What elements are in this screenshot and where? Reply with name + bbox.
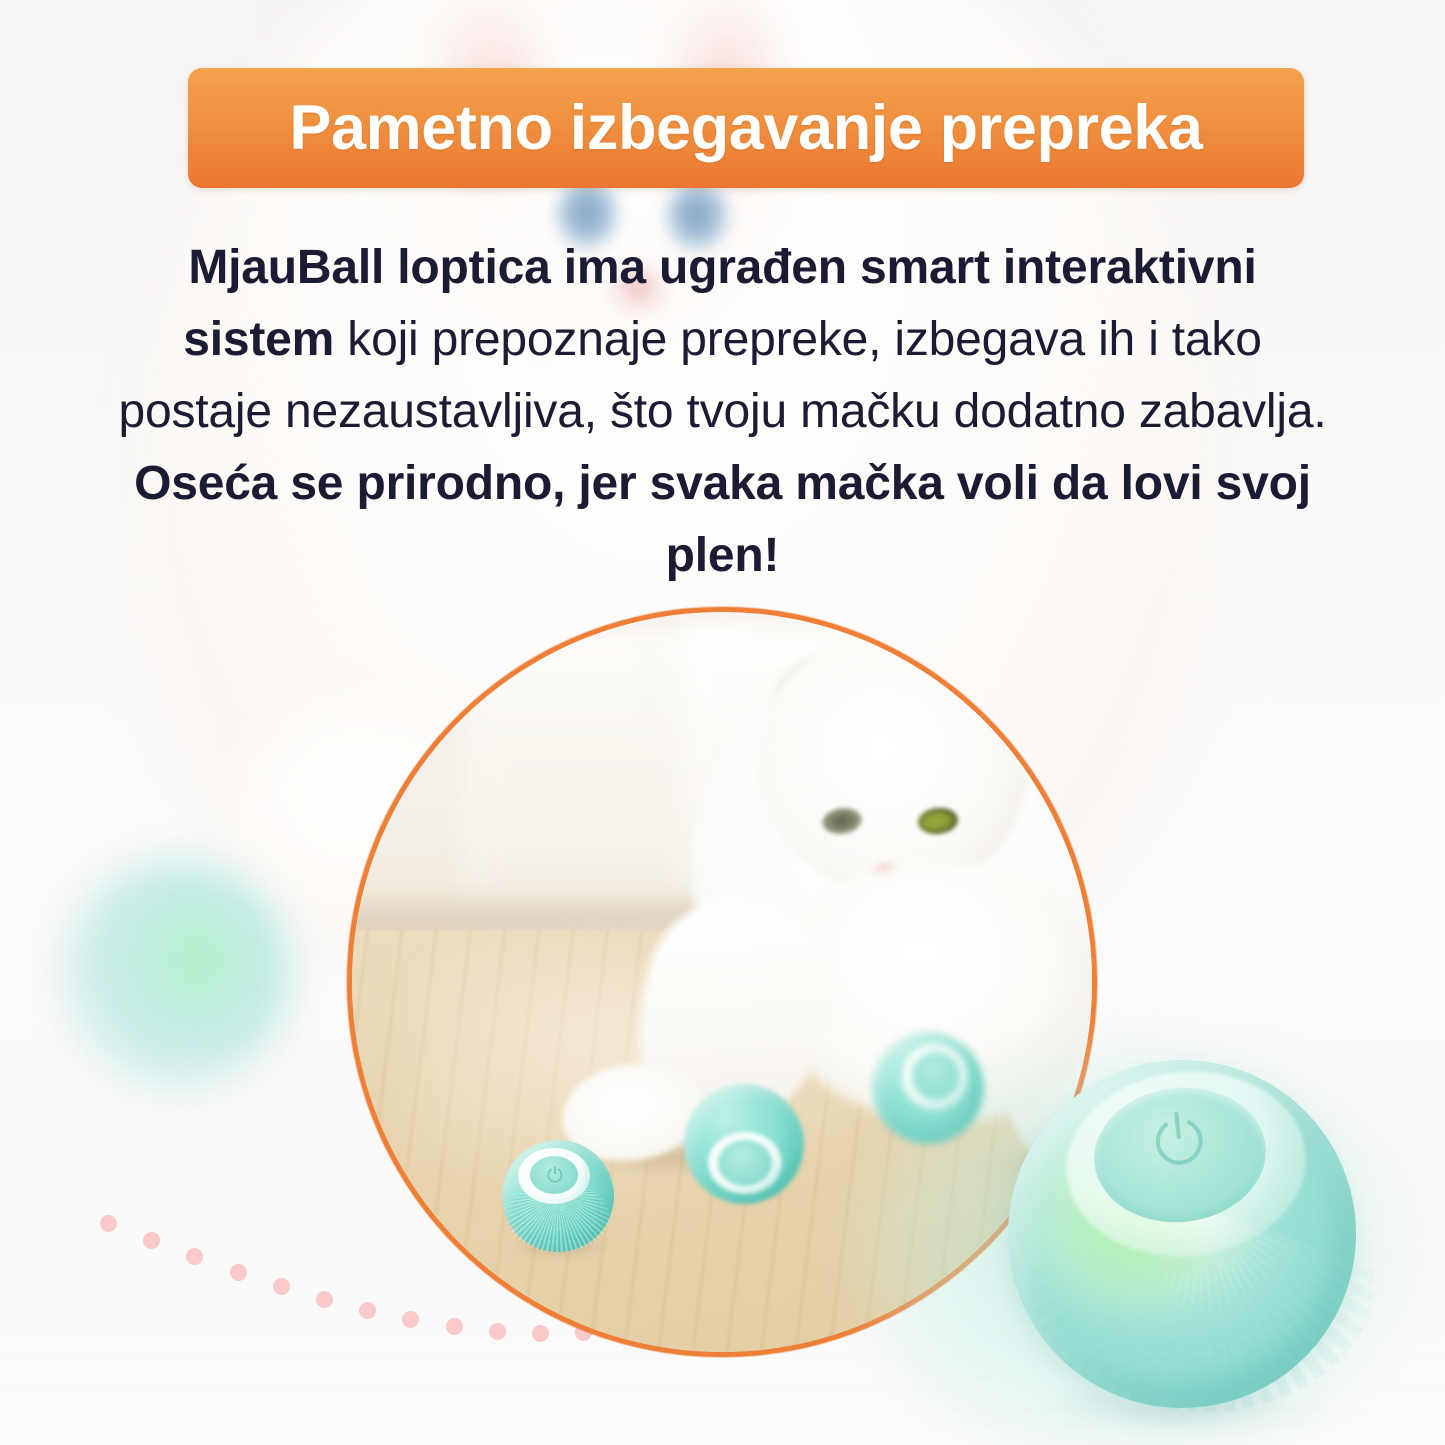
power-icon: ⏻ <box>547 1166 563 1186</box>
body-line-2-bold: sistem <box>183 313 334 366</box>
inset-smart-ball-mid <box>684 1084 804 1204</box>
body-line-4-regular: zabavlja. <box>1139 385 1327 438</box>
body-line-4-bold: Oseća se prirodno, jer svaka mačka voli <box>134 457 1039 510</box>
body-line-1: MjauBall loptica ima ugrađen smart inter… <box>188 241 1256 294</box>
body-line-2-regular: koji prepoznaje prepreke, izbegava ih i … <box>334 313 1262 366</box>
power-icon <box>1145 1105 1213 1173</box>
hero-product-ball <box>988 1056 1392 1434</box>
body-paragraph: MjauBall loptica ima ugrađen smart inter… <box>110 232 1335 592</box>
banner-title-text: Pametno izbegavanje prepreka <box>289 97 1202 160</box>
title-banner: Pametno izbegavanje prepreka <box>188 68 1304 188</box>
inset-cat-head <box>757 634 1027 894</box>
inset-smart-ball-near: ⏻ <box>502 1140 614 1252</box>
inset-ball-cap <box>718 1140 772 1186</box>
background-blurred-ball <box>58 858 294 1090</box>
promo-graphic: Pametno izbegavanje prepreka MjauBall lo… <box>0 0 1445 1445</box>
body-line-3: postaje nezaustavljiva, što tvoju mačku … <box>119 385 1126 438</box>
